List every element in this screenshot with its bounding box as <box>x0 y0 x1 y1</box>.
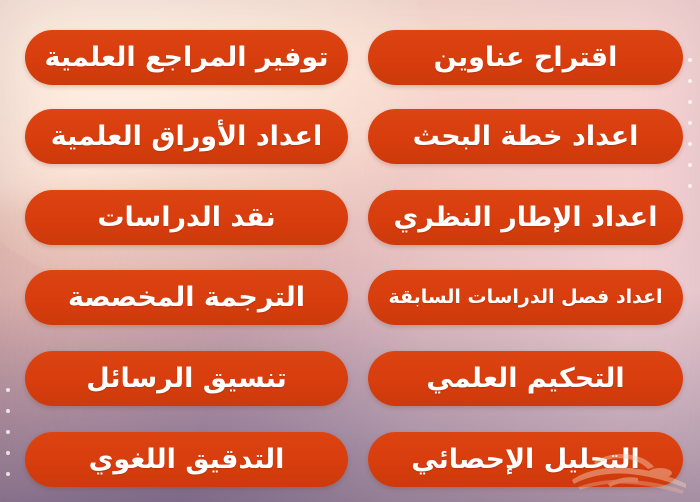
service-pill-label: توفير المراجع العلمية <box>45 44 329 71</box>
service-pill-label: تنسيق الرسائل <box>86 365 287 392</box>
service-pill-label: اعداد فصل الدراسات السابقة <box>388 288 662 307</box>
service-pill-statistical-analysis[interactable]: التحليل الإحصائي <box>368 432 683 487</box>
service-pill-grid: اقتراح عناوين اعداد خطة البحث اعداد الإط… <box>0 0 700 502</box>
service-pill-label: الترجمة المخصصة <box>68 284 305 311</box>
service-pill-suggest-titles[interactable]: اقتراح عناوين <box>368 30 683 85</box>
service-pill-language-proofreading[interactable]: التدقيق اللغوي <box>25 432 348 487</box>
service-pill-scientific-review[interactable]: التحكيم العلمي <box>368 351 683 406</box>
service-pill-theoretical-framework[interactable]: اعداد الإطار النظري <box>368 190 683 245</box>
service-pill-label: التحليل الإحصائي <box>411 446 639 473</box>
service-pill-label: اعداد الإطار النظري <box>394 204 658 231</box>
service-pill-label: اعداد الأوراق العلمية <box>51 123 322 150</box>
service-pill-label: اقتراح عناوين <box>434 44 618 71</box>
service-pill-provide-references[interactable]: توفير المراجع العلمية <box>25 30 348 85</box>
service-pill-label: اعداد خطة البحث <box>413 123 639 150</box>
service-pill-previous-studies[interactable]: اعداد فصل الدراسات السابقة <box>368 270 683 325</box>
service-pill-specialized-translation[interactable]: الترجمة المخصصة <box>25 270 348 325</box>
service-pill-label: التدقيق اللغوي <box>89 446 285 473</box>
service-pill-prepare-papers[interactable]: اعداد الأوراق العلمية <box>25 109 348 164</box>
service-pill-critique-studies[interactable]: نقد الدراسات <box>25 190 348 245</box>
poster-canvas: اقتراح عناوين اعداد خطة البحث اعداد الإط… <box>0 0 700 502</box>
service-pill-thesis-formatting[interactable]: تنسيق الرسائل <box>25 351 348 406</box>
service-pill-label: التحكيم العلمي <box>426 365 624 392</box>
service-pill-research-plan[interactable]: اعداد خطة البحث <box>368 109 683 164</box>
service-pill-label: نقد الدراسات <box>97 204 275 231</box>
